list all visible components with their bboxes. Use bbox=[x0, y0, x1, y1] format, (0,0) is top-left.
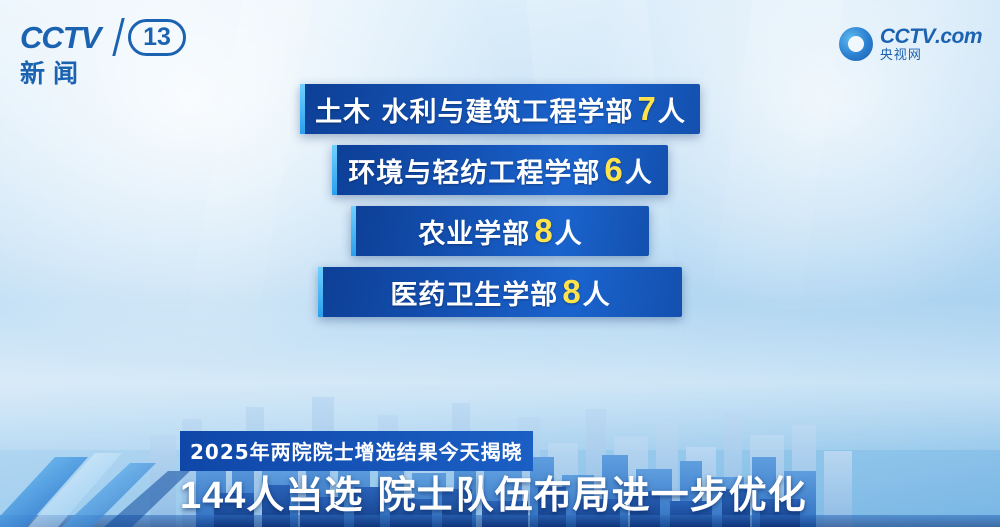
headline-number: 144 bbox=[180, 475, 246, 517]
cctv-com-logo: CCTV .com 央视网 bbox=[839, 22, 982, 66]
cctv-com-text: CCTV .com 央视网 bbox=[880, 26, 982, 62]
logo-slash bbox=[112, 18, 124, 56]
horizon-haze bbox=[0, 300, 1000, 450]
stat-bar-value: 6 bbox=[604, 151, 622, 189]
stat-bar-row: 土木 水利与建筑工程学部 7 人 bbox=[300, 84, 700, 134]
cctv-wordmark: CCTV bbox=[20, 20, 100, 56]
stat-bar-value: 7 bbox=[638, 90, 656, 128]
cctv-globe-icon bbox=[839, 27, 873, 61]
cctv-com-cn: 央视网 bbox=[880, 49, 982, 62]
broadcast-frame: CCTV 13 新闻 CCTV .com 央视网 土木 水利与建筑工程学部 7 … bbox=[0, 0, 1000, 527]
channel-number-badge: 13 bbox=[128, 19, 186, 56]
stat-bar-row: 环境与轻纺工程学部 6 人 bbox=[332, 145, 668, 195]
lower-third-headline: 144人当选 院士队伍布局进一步优化 bbox=[180, 464, 807, 519]
stat-bar-unit: 人 bbox=[625, 151, 652, 190]
stat-bar-label: 环境与轻纺工程学部 bbox=[348, 151, 600, 190]
stat-bar-label: 农业学部 bbox=[418, 212, 530, 251]
stat-bar-unit: 人 bbox=[583, 273, 610, 312]
stat-bar-row: 医药卫生学部 8 人 bbox=[318, 267, 682, 317]
stat-bar-value: 8 bbox=[534, 212, 552, 250]
stat-bar-row: 农业学部 8 人 bbox=[351, 206, 649, 256]
stat-bar-unit: 人 bbox=[658, 90, 685, 129]
stat-bar-value: 8 bbox=[562, 273, 580, 311]
headline-text: 人当选 院士队伍布局进一步优化 bbox=[246, 473, 806, 517]
cctv13-logo: CCTV 13 新闻 bbox=[18, 18, 203, 86]
stat-bar-list: 土木 水利与建筑工程学部 7 人 环境与轻纺工程学部 6 人 农业学部 8 人 … bbox=[0, 84, 1000, 317]
stat-bar-label: 医药卫生学部 bbox=[390, 273, 558, 312]
cctv-com-suffix: .com bbox=[935, 26, 982, 47]
stat-bar-label: 土木 水利与建筑工程学部 bbox=[315, 90, 633, 129]
decorative-ribbon bbox=[0, 449, 190, 527]
stat-bar-unit: 人 bbox=[555, 212, 582, 251]
cctv-com-wordmark: CCTV bbox=[880, 26, 935, 47]
